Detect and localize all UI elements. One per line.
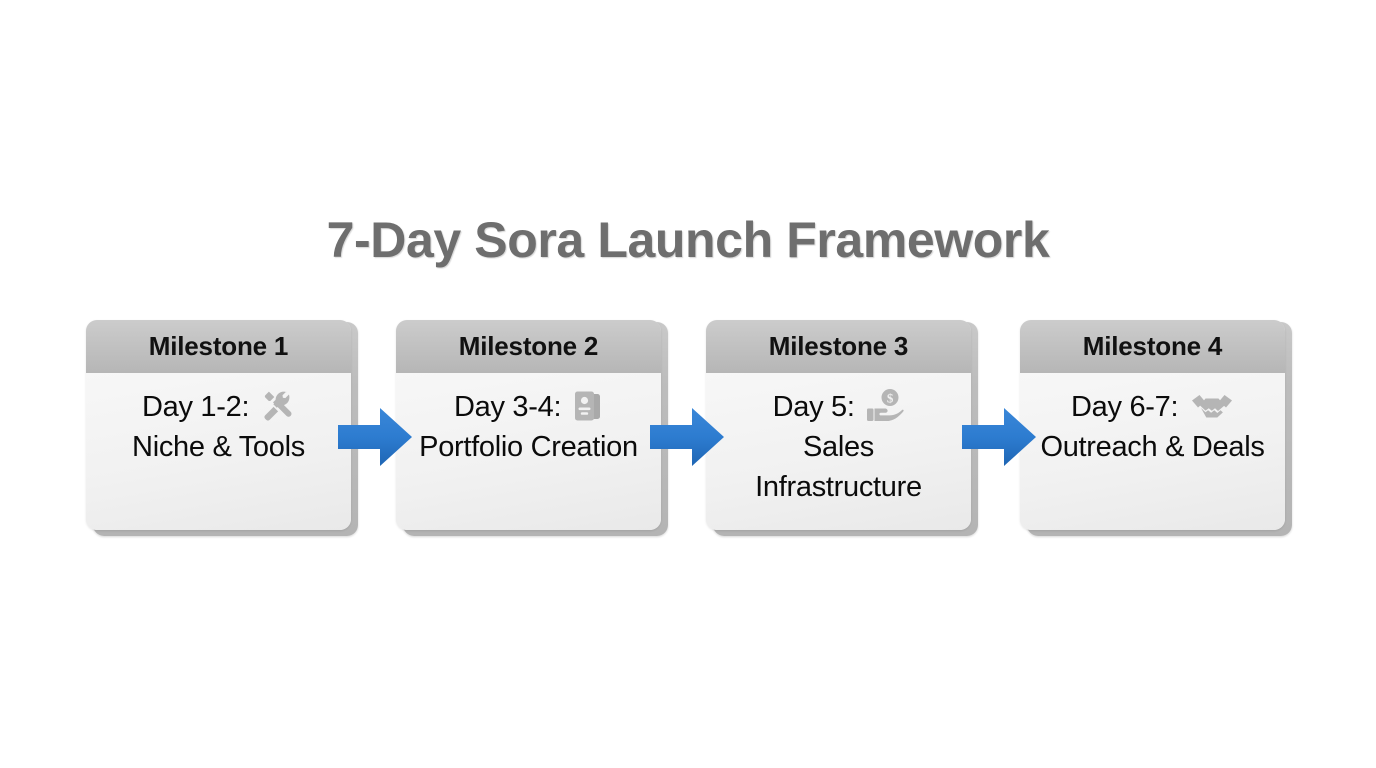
card-text-4: Day 6-7: (1040, 387, 1264, 467)
card-header-label: Milestone 4 (1083, 331, 1222, 362)
card-body-1: Day 1-2: (86, 373, 351, 530)
card-surface: Milestone 1 Day 1-2: (86, 320, 351, 530)
card-text-3: Day 5: $ S (721, 387, 957, 507)
right-arrow-icon (962, 408, 1036, 466)
card-body-label: Outreach & Deals (1040, 431, 1264, 463)
hand-holding-money-icon: $ (866, 388, 904, 422)
hammer-and-wrench-icon (261, 390, 295, 422)
milestone-flow: Milestone 1 Day 1-2: (86, 320, 1292, 536)
card-days-label: Day 3-4: (454, 391, 561, 423)
arrow-1-to-2 (338, 408, 412, 466)
card-body-3: Day 5: $ S (706, 373, 971, 530)
card-text-1: Day 1-2: (132, 387, 305, 467)
card-body-label: Sales Infrastructure (755, 431, 922, 503)
card-header-label: Milestone 3 (769, 331, 908, 362)
card-days-label: Day 1-2: (142, 391, 249, 423)
milestone-card-4[interactable]: Milestone 4 Day 6-7: (1020, 320, 1292, 536)
handshake-icon (1190, 392, 1234, 422)
card-header-3: Milestone 3 (706, 320, 971, 373)
card-body-4: Day 6-7: (1020, 373, 1285, 530)
card-index-portfolio-icon (573, 390, 603, 422)
milestone-card-2[interactable]: Milestone 2 Day 3-4: (396, 320, 668, 536)
arrow-3-to-4 (962, 408, 1036, 466)
page-title: 7-Day Sora Launch Framework (0, 208, 1376, 272)
svg-text:$: $ (887, 390, 894, 405)
card-days-label: Day 5: (773, 391, 855, 423)
arrow-2-to-3 (650, 408, 724, 466)
card-body-label: Niche & Tools (132, 431, 305, 463)
slide-canvas: 7-Day Sora Launch Framework Milestone 1 … (0, 0, 1376, 768)
card-days-label: Day 6-7: (1071, 391, 1178, 423)
card-header-label: Milestone 2 (459, 331, 598, 362)
card-header-4: Milestone 4 (1020, 320, 1285, 373)
card-header-2: Milestone 2 (396, 320, 661, 373)
card-surface: Milestone 2 Day 3-4: (396, 320, 661, 530)
right-arrow-icon (338, 408, 412, 466)
right-arrow-icon (650, 408, 724, 466)
card-surface: Milestone 3 Day 5: $ (706, 320, 971, 530)
card-header-label: Milestone 1 (149, 331, 288, 362)
card-text-2: Day 3-4: (419, 387, 638, 467)
card-body-2: Day 3-4: (396, 373, 661, 530)
milestone-card-3[interactable]: Milestone 3 Day 5: $ (706, 320, 978, 536)
card-surface: Milestone 4 Day 6-7: (1020, 320, 1285, 530)
card-body-label: Portfolio Creation (419, 431, 638, 463)
card-header-1: Milestone 1 (86, 320, 351, 373)
milestone-card-1[interactable]: Milestone 1 Day 1-2: (86, 320, 358, 536)
